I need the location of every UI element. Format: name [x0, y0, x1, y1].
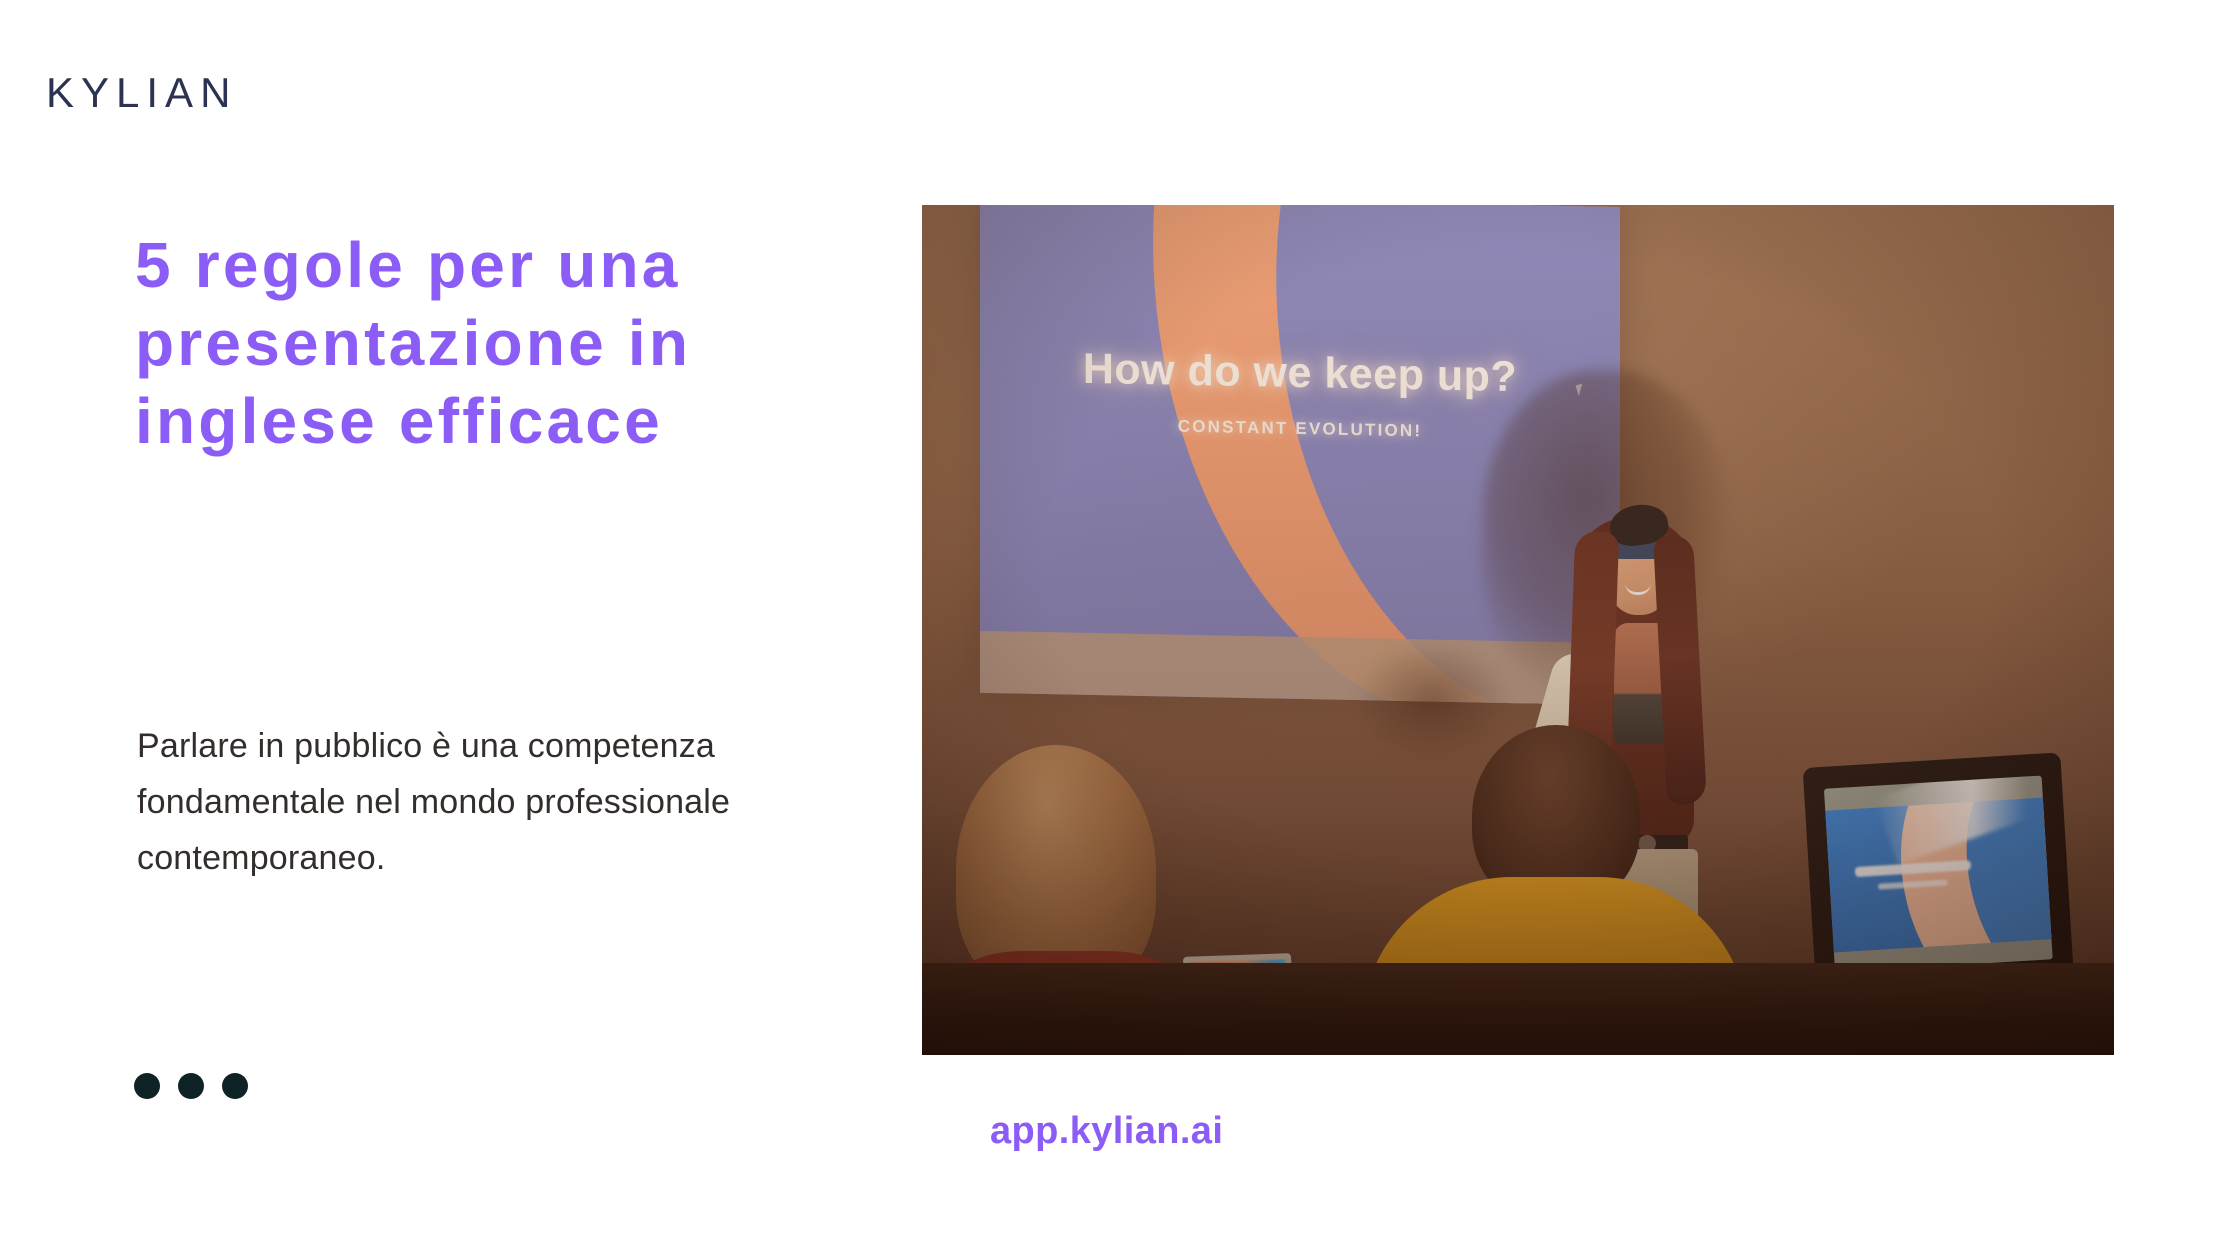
page-title-line-2: presentazione in: [135, 304, 875, 382]
body-paragraph: Parlare in pubblico è una competenza fon…: [137, 718, 757, 886]
decoration-dot-icon: [134, 1073, 160, 1099]
footer-url[interactable]: app.kylian.ai: [990, 1110, 1223, 1153]
page-title-line-3: inglese efficace: [135, 382, 875, 460]
dots-decoration: [134, 1073, 248, 1099]
left-content-column: 5 regole per una presentazione in ingles…: [0, 0, 900, 1260]
page-title-line-1: 5 regole per una: [135, 226, 875, 304]
monitor-screen: [1824, 776, 2053, 973]
photo-scene: How do we keep up? CONSTANT EVOLUTION!: [922, 205, 2114, 1055]
decoration-dot-icon: [178, 1073, 204, 1099]
decoration-dot-icon: [222, 1073, 248, 1099]
desk-surface: [922, 963, 2114, 1055]
presentation-photo: How do we keep up? CONSTANT EVOLUTION!: [922, 205, 2114, 1055]
page-title: 5 regole per una presentazione in ingles…: [135, 226, 875, 460]
